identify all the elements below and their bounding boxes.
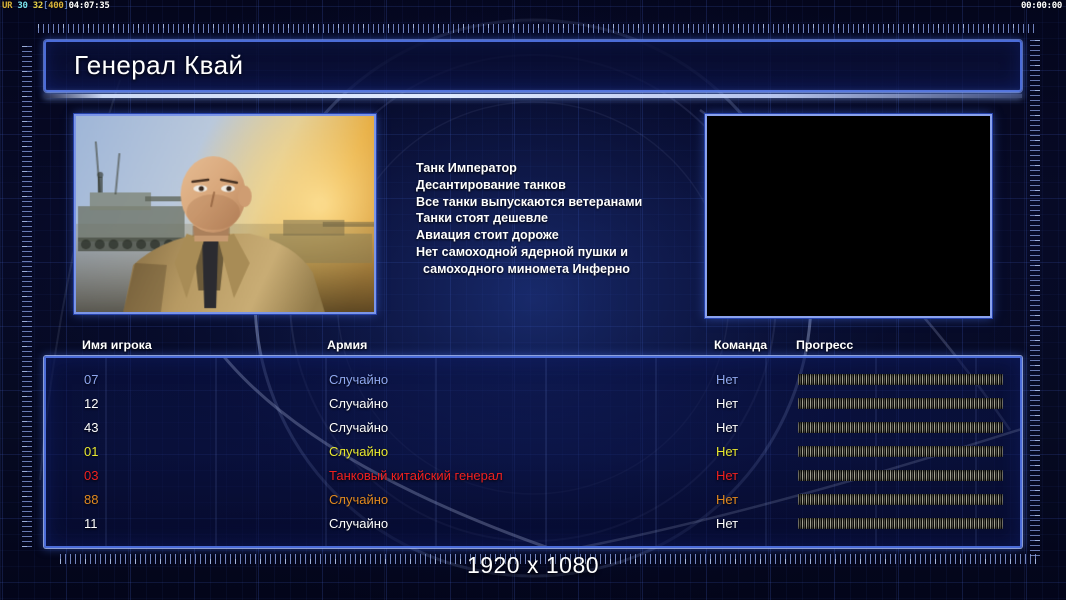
debug-clock-overlay: 00:00:00 [1021, 1, 1062, 11]
player-table-header: Имя игрока Армия Команда Прогресс [44, 338, 1022, 358]
general-description-line: Авиация стоит дороже [416, 227, 716, 244]
player-team-cell[interactable]: Нет [716, 420, 738, 435]
general-portrait [74, 114, 376, 314]
player-progress-bar [798, 398, 1003, 409]
title-divider [44, 94, 1022, 98]
player-army-cell[interactable]: Танковый китайский генерал [329, 468, 503, 483]
player-army-cell[interactable]: Случайно [329, 396, 388, 411]
ruler-decoration-right [1030, 40, 1040, 556]
page-title: Генерал Квай [74, 50, 243, 81]
debug-token: 32 [33, 1, 43, 11]
player-team-cell[interactable]: Нет [716, 396, 738, 411]
table-row[interactable]: 07СлучайноНет [46, 367, 1020, 391]
player-name-cell: 88 [84, 492, 98, 507]
player-army-cell[interactable]: Случайно [329, 372, 388, 387]
player-army-cell[interactable]: Случайно [329, 444, 388, 459]
player-progress-bar [798, 374, 1003, 385]
table-row[interactable]: 11СлучайноНет [46, 511, 1020, 535]
general-description-line: Все танки выпускаются ветеранами [416, 194, 716, 211]
table-row[interactable]: 88СлучайноНет [46, 487, 1020, 511]
player-progress-bar [798, 518, 1003, 529]
table-row[interactable]: 03Танковый китайский генералНет [46, 463, 1020, 487]
player-name-cell: 12 [84, 396, 98, 411]
column-header-team: Команда [714, 338, 767, 352]
map-preview[interactable] [705, 114, 992, 318]
general-description-line: самоходного миномета Инферно [416, 261, 716, 278]
player-team-cell[interactable]: Нет [716, 516, 738, 531]
table-row[interactable]: 43СлучайноНет [46, 415, 1020, 439]
map-preview-image [707, 116, 990, 316]
debug-token: 04:07:35 [69, 1, 110, 11]
player-name-cell: 11 [84, 516, 98, 531]
general-portrait-image [76, 116, 374, 312]
column-header-name: Имя игрока [82, 338, 152, 352]
column-header-army: Армия [327, 338, 367, 352]
player-table-panel: 07СлучайноНет12СлучайноНет43СлучайноНет0… [44, 356, 1022, 548]
title-panel: Генерал Квай [44, 40, 1022, 92]
ruler-decoration-left [22, 46, 32, 550]
debug-token: UR [2, 1, 17, 11]
player-team-cell[interactable]: Нет [716, 468, 738, 483]
player-progress-bar [798, 470, 1003, 481]
resolution-label: 1920 x 1080 [0, 552, 1066, 579]
player-name-cell: 01 [84, 444, 98, 459]
table-row[interactable]: 12СлучайноНет [46, 391, 1020, 415]
player-army-cell[interactable]: Случайно [329, 516, 388, 531]
column-header-progress: Прогресс [796, 338, 853, 352]
player-progress-bar [798, 422, 1003, 433]
general-description-line: Нет самоходной ядерной пушки и [416, 244, 716, 261]
general-description-line: Танк Император [416, 160, 716, 177]
player-army-cell[interactable]: Случайно [329, 492, 388, 507]
ruler-decoration-top [38, 24, 1038, 33]
player-team-cell[interactable]: Нет [716, 492, 738, 507]
table-row[interactable]: 01СлучайноНет [46, 439, 1020, 463]
player-name-cell: 43 [84, 420, 98, 435]
player-army-cell[interactable]: Случайно [329, 420, 388, 435]
general-description-line: Танки стоят дешевле [416, 210, 716, 227]
player-name-cell: 03 [84, 468, 98, 483]
player-progress-bar [798, 494, 1003, 505]
debug-stats-overlay: UR 30 32[400]04:07:35 [2, 1, 110, 11]
player-name-cell: 07 [84, 372, 98, 387]
player-team-cell[interactable]: Нет [716, 444, 738, 459]
general-description-list: Танк ИмператорДесантирование танковВсе т… [416, 160, 716, 278]
general-description-line: Десантирование танков [416, 177, 716, 194]
player-progress-bar [798, 446, 1003, 457]
debug-token: 30 [17, 1, 32, 11]
debug-token: 400 [48, 1, 63, 11]
game-lobby-screen: UR 30 32[400]04:07:35 00:00:00 Генерал К… [0, 0, 1066, 600]
player-team-cell[interactable]: Нет [716, 372, 738, 387]
general-info-row: Танк ИмператорДесантирование танковВсе т… [44, 104, 1022, 334]
